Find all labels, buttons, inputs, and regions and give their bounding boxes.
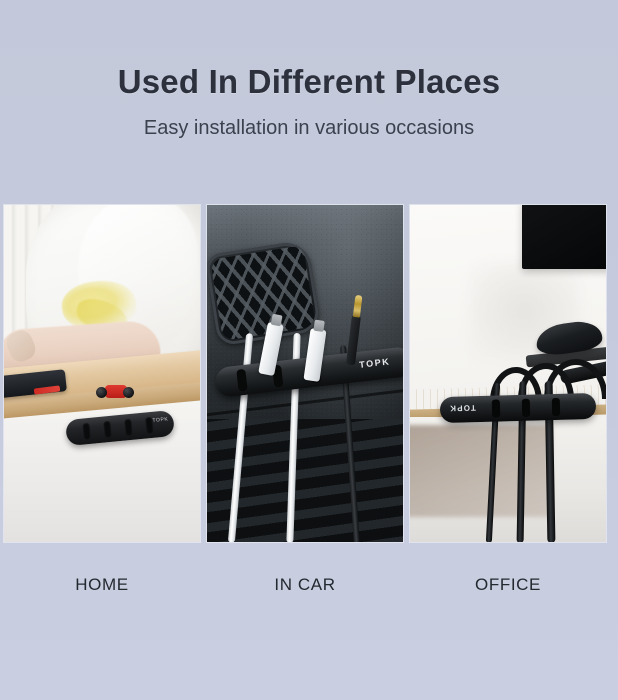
vent-bars-cross [210,245,316,341]
car-air-vent [207,239,322,346]
office-monitor [522,205,606,269]
panel-gallery: TOPK T [4,205,614,542]
panel-in-car[interactable]: TOPK [207,205,403,542]
promo-page: Used In Different Places Easy installati… [0,0,618,700]
header: Used In Different Places Easy installati… [0,0,618,141]
brand-logo-topk: TOPK [359,356,391,369]
organizer-slot [82,423,91,441]
organizer-slot [124,419,133,437]
brand-logo-topk: TOPK [449,403,476,413]
caption-home: HOME [4,574,200,596]
panel-office[interactable]: TOPK [410,205,606,542]
office-cable-organizer: TOPK [440,393,597,423]
home-earbud-left [96,387,107,398]
organizer-slot [236,369,247,392]
scene-home: TOPK [4,205,200,542]
page-title: Used In Different Places [0,62,618,102]
panel-home[interactable]: TOPK [4,205,200,542]
caption-row: HOME IN CAR OFFICE [4,574,614,596]
organizer-slot [492,399,500,417]
caption-in-car: IN CAR [207,574,403,596]
office-under-desk-shadow [410,425,552,517]
organizer-slot [103,421,112,439]
caption-office: OFFICE [410,574,606,596]
page-subtitle: Easy installation in various occasions [0,102,618,141]
organizer-slot [552,398,560,416]
organizer-slot [522,399,530,417]
brand-logo-topk: TOPK [152,416,168,423]
scene-office: TOPK [410,205,606,542]
home-earbud-right [123,387,134,398]
scene-in-car: TOPK [207,205,403,542]
